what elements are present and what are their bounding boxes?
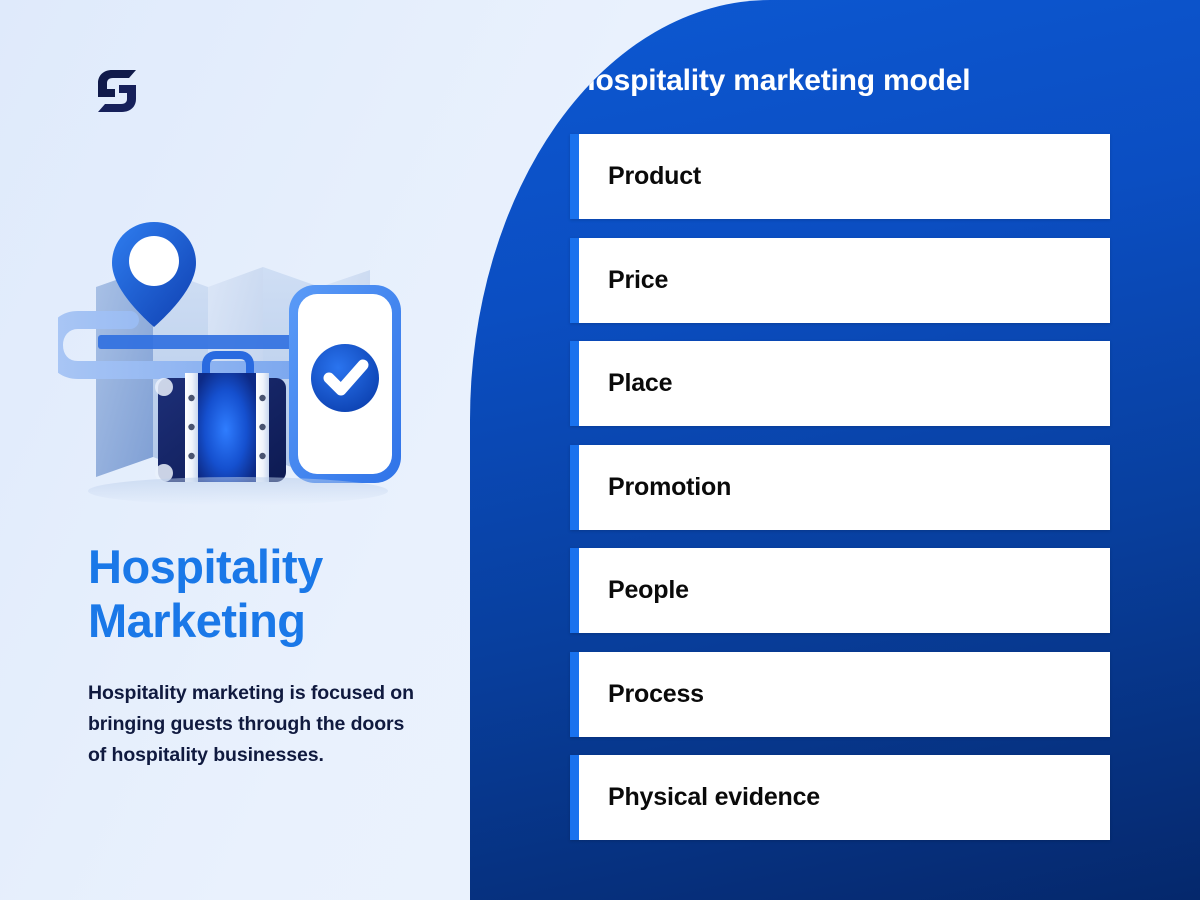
accent-bar-icon [570, 755, 579, 840]
phone-icon [289, 285, 401, 483]
travel-illustration-svg [58, 215, 428, 515]
accent-bar-icon [570, 341, 579, 426]
list-item-label: Price [570, 266, 668, 295]
accent-bar-icon [570, 548, 579, 633]
list-item[interactable]: Price [570, 238, 1110, 323]
panel-title: Hospitality marketing model [574, 64, 970, 98]
page-title-line1: Hospitality [88, 540, 448, 594]
list-item-label: Promotion [570, 473, 731, 502]
list-item[interactable]: People [570, 548, 1110, 633]
travel-illustration [58, 215, 428, 515]
page-description: Hospitality marketing is focused on brin… [88, 678, 418, 770]
list-item[interactable]: Physical evidence [570, 755, 1110, 840]
list-item-label: Place [570, 369, 672, 398]
accent-bar-icon [570, 134, 579, 219]
list-item-label: People [570, 576, 689, 605]
accent-bar-icon [570, 652, 579, 737]
accent-bar-icon [570, 238, 579, 323]
accent-bar-icon [570, 445, 579, 530]
right-panel: Hospitality marketing model Product Pric… [470, 0, 1200, 900]
page-title: Hospitality Marketing [88, 540, 448, 647]
model-list: Product Price Place Promotion People Pro [570, 134, 1110, 859]
left-panel: Hospitality Marketing Hospitality market… [0, 0, 480, 900]
page-title-line2: Marketing [88, 594, 448, 648]
list-item-label: Product [570, 162, 701, 191]
list-item[interactable]: Product [570, 134, 1110, 219]
brand-logo-icon [88, 62, 146, 120]
list-item[interactable]: Place [570, 341, 1110, 426]
infographic-poster: Hospitality Marketing Hospitality market… [0, 0, 1200, 900]
list-item-label: Physical evidence [570, 783, 820, 812]
list-item[interactable]: Promotion [570, 445, 1110, 530]
list-item[interactable]: Process [570, 652, 1110, 737]
list-item-label: Process [570, 680, 704, 709]
brand-logo[interactable] [88, 62, 146, 120]
